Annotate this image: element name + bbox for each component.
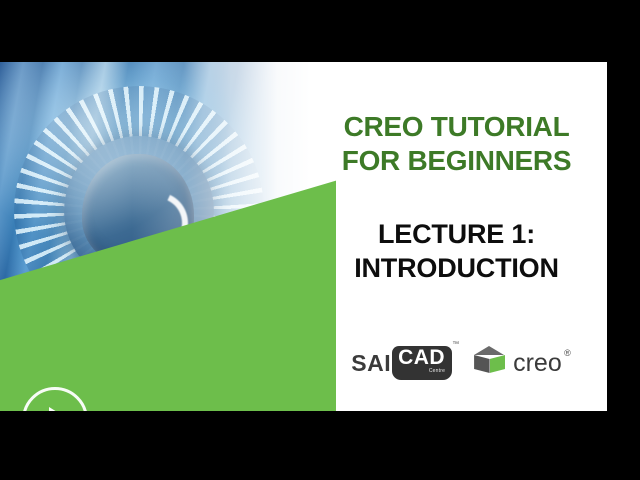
slide-content: CREO TUTORIAL FOR BEGINNERS LECTURE 1: I… — [0, 62, 607, 411]
creo-cube-right-face — [490, 355, 506, 373]
saicad-logo-sai-text: SAI — [351, 350, 391, 377]
course-title-line-1: CREO TUTORIAL — [306, 110, 607, 144]
play-triangle-icon — [49, 407, 75, 411]
registered-symbol: ® — [564, 348, 571, 358]
lecture-title: LECTURE 1: INTRODUCTION — [306, 217, 607, 285]
creo-cube-top-face — [474, 346, 504, 355]
logo-row: SAI CAD Centre ™ creo ® — [306, 340, 607, 386]
trademark-symbol: ™ — [452, 341, 459, 348]
text-column: CREO TUTORIAL FOR BEGINNERS LECTURE 1: I… — [306, 62, 607, 411]
saicad-logo-cad-box: CAD Centre ™ — [392, 346, 452, 380]
creo-wordmark: creo — [513, 351, 562, 376]
creo-cube-icon — [474, 346, 505, 380]
creo-cube-left-face — [474, 355, 490, 373]
saicad-logo-centre-text: Centre — [429, 369, 445, 374]
lecture-title-line-2: INTRODUCTION — [306, 251, 607, 285]
course-title: CREO TUTORIAL FOR BEGINNERS — [306, 110, 607, 178]
saicad-logo-cad-text: CAD — [398, 348, 445, 368]
lecture-title-line-1: LECTURE 1: — [306, 217, 607, 251]
course-title-line-2: FOR BEGINNERS — [306, 144, 607, 178]
saicad-logo: SAI CAD Centre ™ — [351, 346, 452, 380]
creo-logo: creo ® — [474, 346, 562, 380]
video-frame: CREO TUTORIAL FOR BEGINNERS LECTURE 1: I… — [0, 0, 640, 480]
